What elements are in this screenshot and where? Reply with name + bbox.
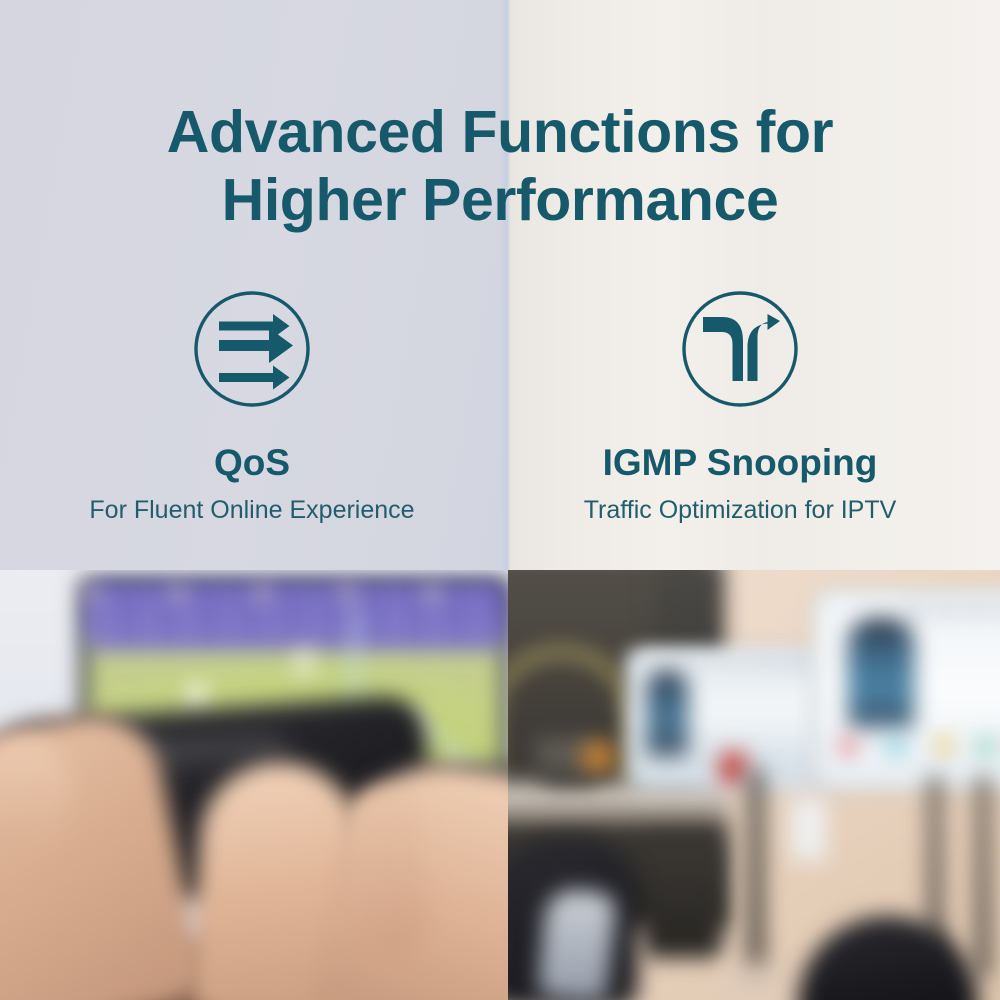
photo-stand-post bbox=[976, 776, 990, 976]
photo-room-iptv bbox=[508, 570, 1000, 1000]
page-title-line-2: Higher Performance bbox=[0, 166, 1000, 234]
photo-main-screen-text bbox=[908, 604, 1000, 616]
photo-red-object bbox=[720, 752, 746, 784]
feature-qos-subtitle: For Fluent Online Experience bbox=[89, 495, 414, 525]
feature-igmp-subtitle: Traffic Optimization for IPTV bbox=[584, 495, 897, 525]
photo-foreground-blur bbox=[716, 962, 796, 1000]
photo-stand-post bbox=[748, 770, 764, 980]
product-feature-poster: Advanced Functions for Higher Performanc… bbox=[0, 0, 1000, 1000]
photo-person-face-left bbox=[536, 887, 617, 1000]
feature-qos: QoS For Fluent Online Experience bbox=[2, 288, 502, 525]
photo-bin bbox=[644, 838, 722, 958]
photo-second-screen-band bbox=[634, 656, 816, 670]
content-layer: Advanced Functions for Higher Performanc… bbox=[0, 0, 1000, 575]
igmp-branch-arrow-icon bbox=[679, 288, 801, 410]
feature-igmp-title: IGMP Snooping bbox=[603, 442, 878, 484]
photo-wall-paper bbox=[792, 798, 826, 860]
photo-stadium-lights bbox=[88, 584, 502, 600]
photo-main-screen-person bbox=[848, 618, 914, 728]
photo-orange-object bbox=[580, 742, 618, 772]
photo-player bbox=[296, 648, 312, 676]
feature-qos-title: QoS bbox=[214, 442, 290, 484]
page-title: Advanced Functions for Higher Performanc… bbox=[0, 98, 1000, 234]
photo-second-screen-person bbox=[646, 670, 688, 756]
photo-strip bbox=[0, 570, 1000, 1000]
qos-arrows-icon bbox=[191, 288, 313, 410]
feature-list: QoS For Fluent Online Experience IGMP Sn… bbox=[0, 288, 1000, 525]
page-title-line-1: Advanced Functions for bbox=[0, 98, 1000, 166]
photo-product-icons bbox=[826, 722, 1000, 770]
feature-igmp-snooping: IGMP Snooping Traffic Optimization for I… bbox=[490, 288, 990, 525]
photo-gaming-qos bbox=[0, 570, 508, 1000]
